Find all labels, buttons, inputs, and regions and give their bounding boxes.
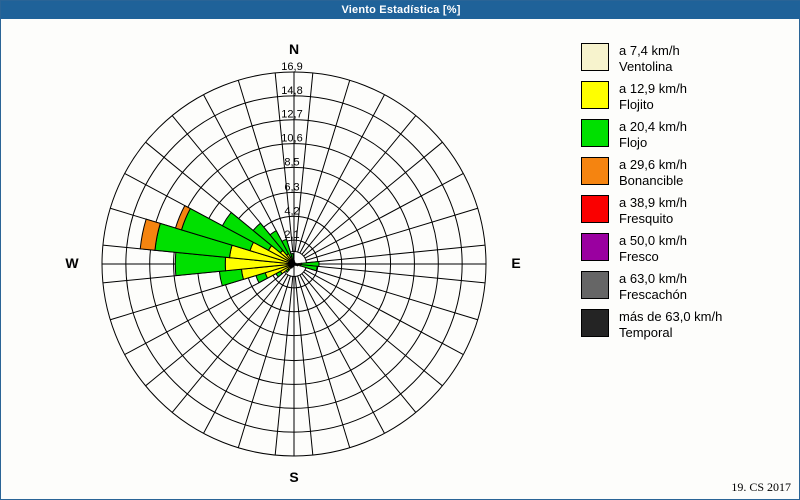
legend-label: a 12,9 km/hFlojito <box>619 81 687 113</box>
legend-color-swatch <box>581 195 609 223</box>
legend-label: a 50,0 km/hFresco <box>619 233 687 265</box>
legend-speed-range: más de 63,0 km/h <box>619 309 722 324</box>
legend-item[interactable]: a 20,4 km/hFlojo <box>581 119 796 151</box>
legend-term: Bonancible <box>619 173 687 189</box>
cardinal-north: N <box>274 41 314 57</box>
legend-label: a 20,4 km/hFlojo <box>619 119 687 151</box>
grid-spoke <box>305 270 463 355</box>
legend-item[interactable]: a 38,9 km/hFresquito <box>581 195 796 227</box>
legend-term: Frescachón <box>619 287 687 303</box>
legend-label: a 7,4 km/hVentolina <box>619 43 680 75</box>
legend-label: a 38,9 km/hFresquito <box>619 195 687 227</box>
legend-label: más de 63,0 km/hTemporal <box>619 309 722 341</box>
legend: a 7,4 km/hVentolinaa 12,9 km/hFlojitoa 2… <box>581 43 796 347</box>
legend-item[interactable]: a 7,4 km/hVentolina <box>581 43 796 75</box>
legend-speed-range: a 29,6 km/h <box>619 157 687 172</box>
legend-color-swatch <box>581 271 609 299</box>
cardinal-east: E <box>496 255 536 271</box>
radial-tick-label: 16,9 <box>281 61 302 73</box>
cardinal-south: S <box>274 469 314 485</box>
legend-speed-range: a 7,4 km/h <box>619 43 680 58</box>
window-title: Viento Estadística [%] <box>341 4 460 16</box>
radial-tick-label: 10,6 <box>281 133 302 145</box>
legend-color-swatch <box>581 119 609 147</box>
chart-area: 2,14,26,38,510,612,714,816,9 N E S W a 7… <box>1 19 799 499</box>
legend-item[interactable]: a 29,6 km/hBonancible <box>581 157 796 189</box>
grid-spoke <box>295 276 313 455</box>
legend-speed-range: a 12,9 km/h <box>619 81 687 96</box>
legend-term: Flojo <box>619 135 687 151</box>
legend-color-swatch <box>581 81 609 109</box>
legend-color-swatch <box>581 157 609 185</box>
grid-spoke <box>203 275 288 433</box>
legend-term: Fresquito <box>619 211 687 227</box>
grid-spoke <box>275 276 293 455</box>
legend-speed-range: a 63,0 km/h <box>619 271 687 286</box>
legend-label: a 29,6 km/hBonancible <box>619 157 687 189</box>
legend-label: a 63,0 km/hFrescachón <box>619 271 687 303</box>
legend-color-swatch <box>581 233 609 261</box>
wind-rose-window: Viento Estadística [%] 2,14,26,38,510,61… <box>0 0 800 500</box>
legend-term: Fresco <box>619 249 687 265</box>
legend-item[interactable]: a 12,9 km/hFlojito <box>581 81 796 113</box>
cardinal-west: W <box>52 255 92 271</box>
legend-term: Flojito <box>619 97 687 113</box>
radial-tick-label: 14,8 <box>281 85 302 97</box>
wind-petal-segment <box>297 265 298 266</box>
legend-item[interactable]: más de 63,0 km/hTemporal <box>581 309 796 341</box>
grid-spoke <box>306 265 485 283</box>
radial-tick-label: 6,3 <box>284 181 299 193</box>
legend-term: Ventolina <box>619 59 680 75</box>
legend-speed-range: a 50,0 km/h <box>619 233 687 248</box>
legend-color-swatch <box>581 309 609 337</box>
grid-spoke <box>300 275 385 433</box>
legend-speed-range: a 38,9 km/h <box>619 195 687 210</box>
grid-spoke <box>306 245 485 263</box>
window-titlebar: Viento Estadística [%] <box>1 1 800 19</box>
radial-tick-labels: 2,14,26,38,510,612,714,816,9 <box>281 61 302 241</box>
legend-speed-range: a 20,4 km/h <box>619 119 687 134</box>
legend-color-swatch <box>581 43 609 71</box>
wind-petal-segment <box>219 269 243 286</box>
radial-tick-label: 8,5 <box>284 156 299 168</box>
grid-spoke <box>305 173 463 258</box>
radial-tick-label: 12,7 <box>281 109 302 121</box>
grid-spoke <box>300 95 385 253</box>
legend-item[interactable]: a 63,0 km/hFrescachón <box>581 271 796 303</box>
radial-tick-label: 2,1 <box>284 229 299 241</box>
footer-credit: 19. CS 2017 <box>731 480 791 495</box>
legend-term: Temporal <box>619 325 722 341</box>
legend-item[interactable]: a 50,0 km/hFresco <box>581 233 796 265</box>
radial-tick-label: 4,2 <box>284 205 299 217</box>
